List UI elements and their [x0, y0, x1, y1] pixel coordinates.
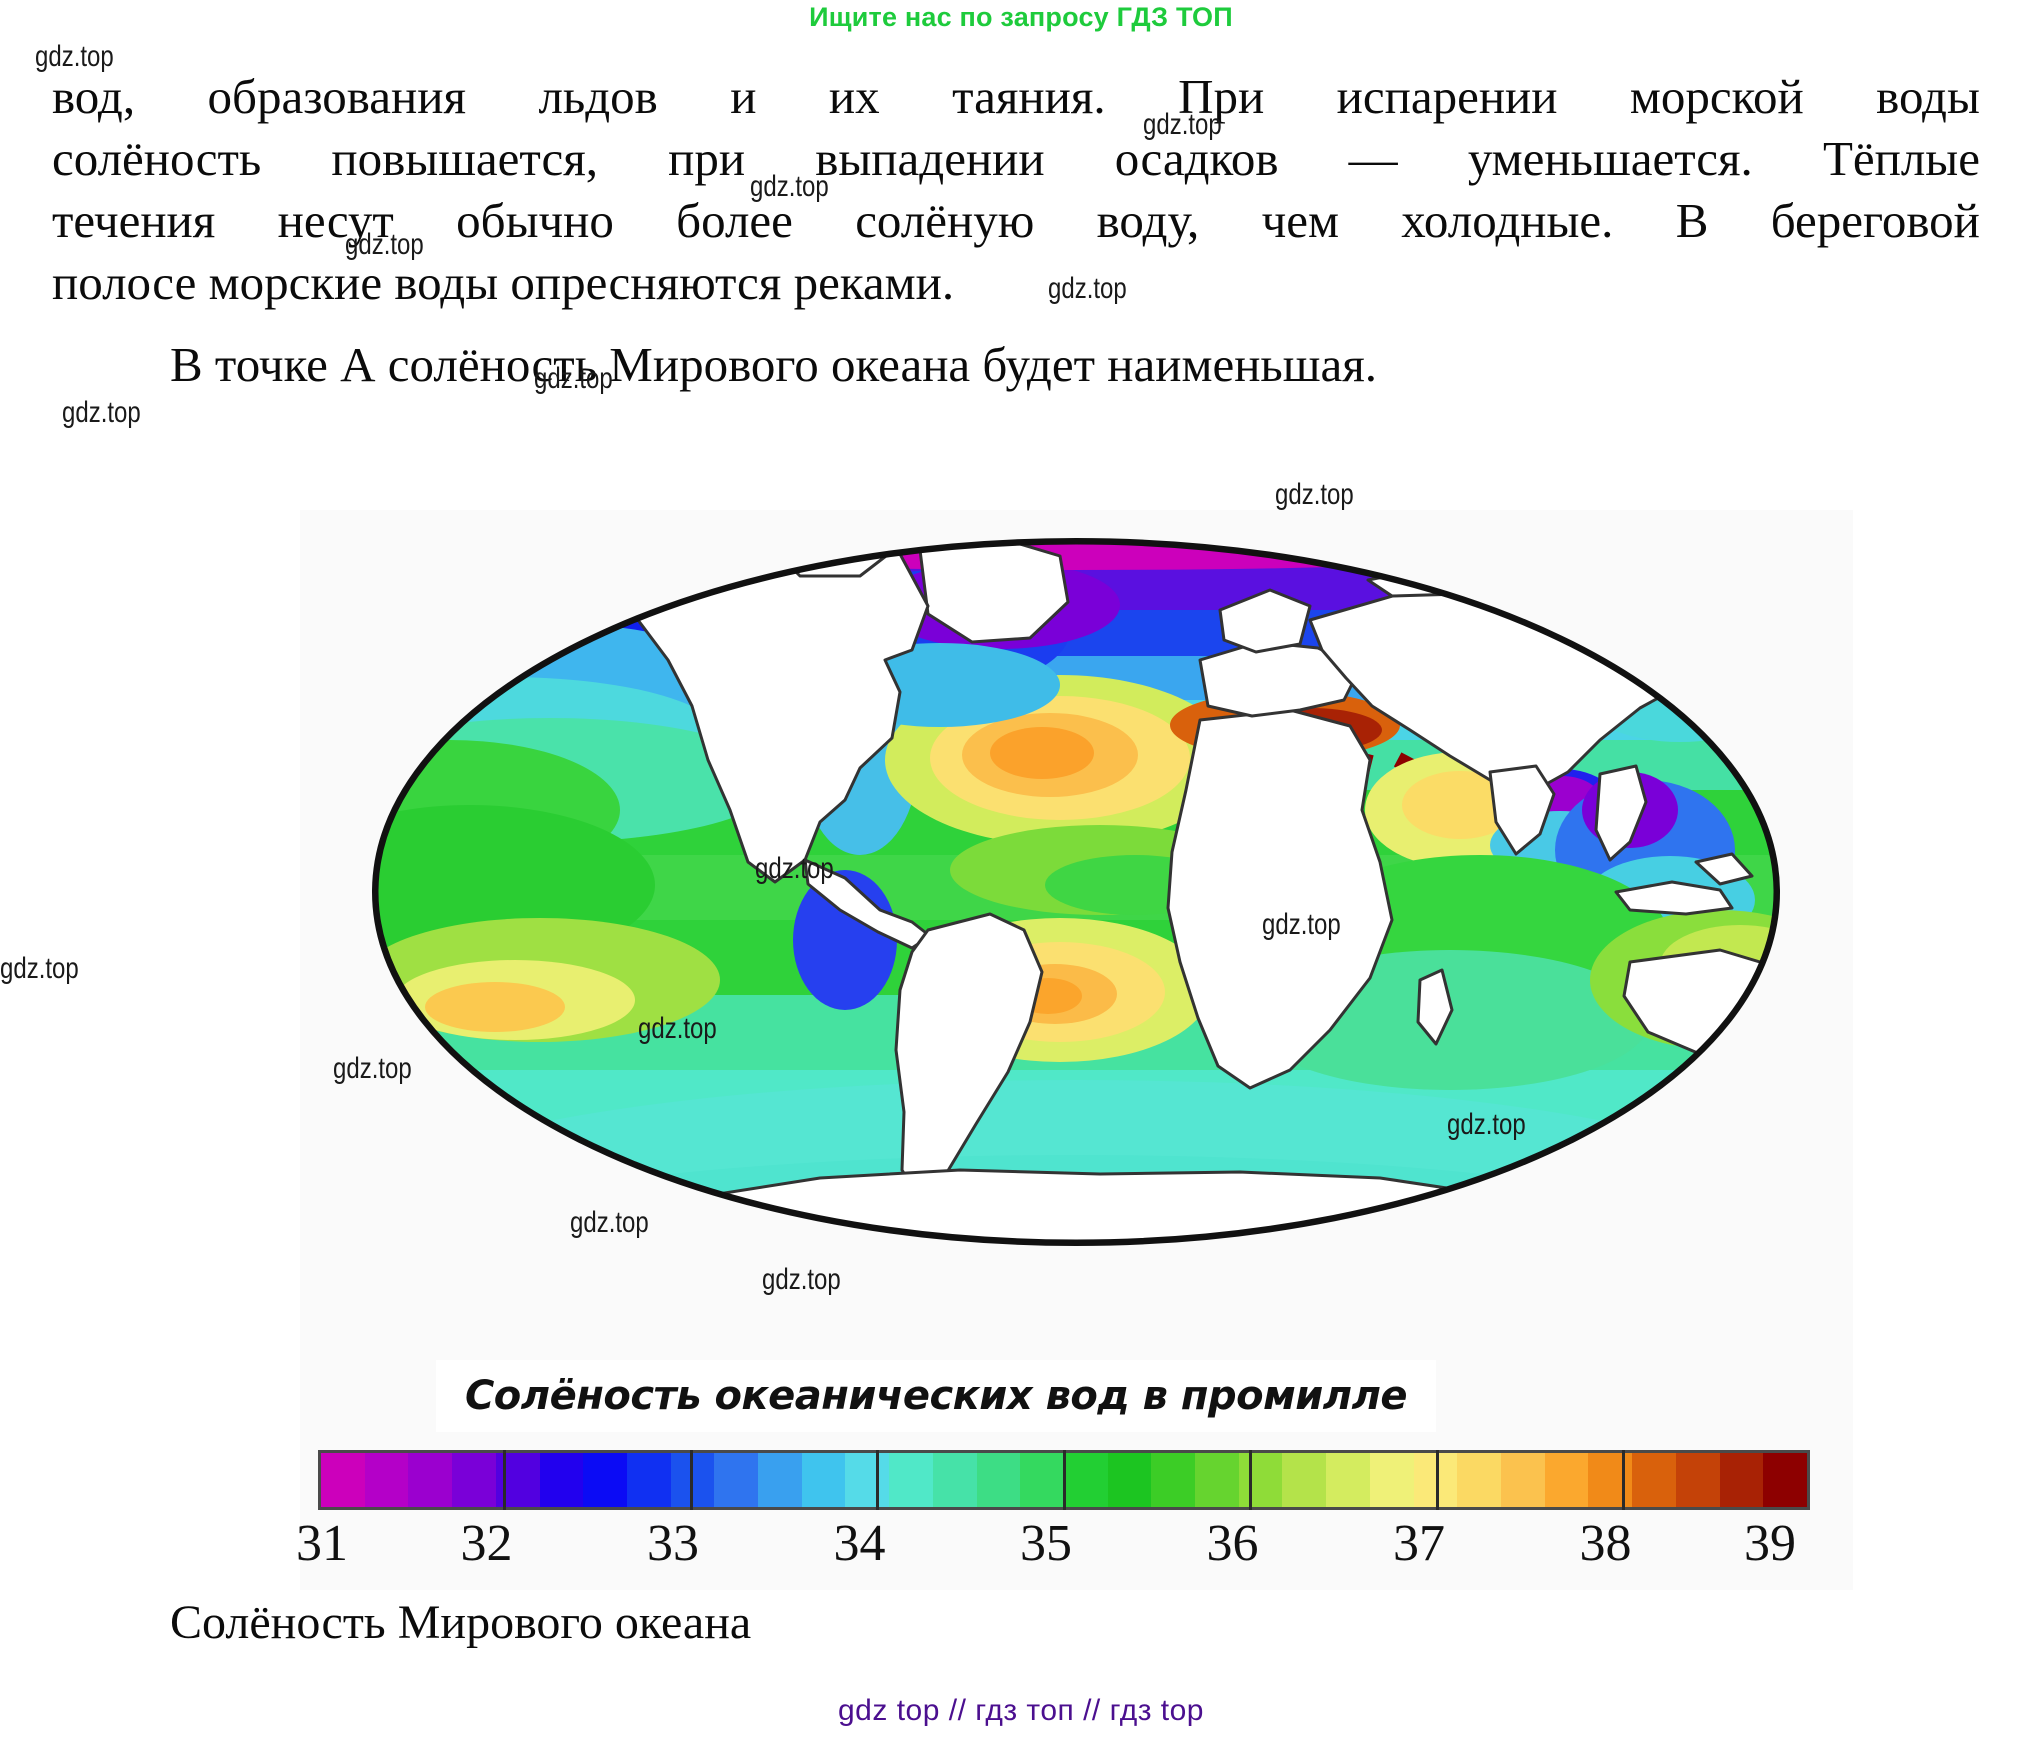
word: солёную [855, 190, 1034, 252]
colorbar-tick-label: 31 [296, 1514, 348, 1573]
word: испарении [1337, 66, 1558, 128]
colorbar-swatch [977, 1453, 1021, 1507]
watermark: gdz.top [0, 952, 79, 986]
colorbar-swatch [714, 1453, 758, 1507]
word: льдов [538, 66, 657, 128]
word: солёность [52, 128, 261, 190]
colorbar-swatch [1195, 1453, 1239, 1507]
colorbar-swatch [1632, 1453, 1676, 1507]
figure-caption: Солёность Мирового океана [170, 1595, 751, 1650]
colorbar-tick-label: 37 [1393, 1514, 1445, 1573]
paragraph-2: В точке А солёность Мирового океана буде… [52, 334, 1982, 396]
word: вод, [52, 66, 135, 128]
word: повышается, [331, 128, 598, 190]
watermark: gdz.top [62, 396, 141, 430]
colorbar-swatch [1501, 1453, 1545, 1507]
colorbar-swatch [1239, 1453, 1283, 1507]
word: воды [1876, 66, 1980, 128]
paragraph-line-2: солёность повышается, при выпадении осад… [52, 128, 1980, 190]
colorbar-swatch [408, 1453, 452, 1507]
colorbar-tick-labels: 313233343536373839 [300, 1514, 1792, 1574]
paragraph-line-1: вод, образования льдов и их таяния. При … [52, 66, 1980, 128]
word: обычно [456, 190, 614, 252]
colorbar-swatch [1064, 1453, 1108, 1507]
colorbar-swatch [583, 1453, 627, 1507]
colorbar-swatch [627, 1453, 671, 1507]
colorbar-swatch [540, 1453, 584, 1507]
colorbar-swatch [1720, 1453, 1764, 1507]
body-text-block: вод, образования льдов и их таяния. При … [52, 66, 1982, 396]
colorbar-swatch [1763, 1453, 1807, 1507]
legend-title-plate: Солёность океанических вод в промилле [436, 1360, 1436, 1432]
colorbar-swatch [889, 1453, 933, 1507]
colorbar-tick-label: 34 [834, 1514, 886, 1573]
colorbar-swatch [1545, 1453, 1589, 1507]
colorbar-swatch [758, 1453, 802, 1507]
paragraph-line-4: полосе морские воды опресняются реками. [52, 252, 1982, 314]
salinity-colorbar [318, 1450, 1810, 1510]
colorbar-swatch [452, 1453, 496, 1507]
salinity-figure: Солёность океанических вод в промилле 31… [300, 510, 1853, 1590]
mollweide-map-svg [300, 510, 1853, 1270]
word: воду, [1097, 190, 1200, 252]
colorbar-swatch [802, 1453, 846, 1507]
colorbar-tick-label: 33 [647, 1514, 699, 1573]
colorbar-swatch [1020, 1453, 1064, 1507]
colorbar-tick-label: 38 [1580, 1514, 1632, 1573]
word: чем [1262, 190, 1339, 252]
colorbar-tick-label: 35 [1020, 1514, 1072, 1573]
colorbar-tick-label: 32 [461, 1514, 513, 1573]
colorbar-swatch [933, 1453, 977, 1507]
colorbar-swatch [1108, 1453, 1152, 1507]
colorbar-swatch [1326, 1453, 1370, 1507]
colorbar-swatch [321, 1453, 365, 1507]
colorbar-tick-label: 39 [1744, 1514, 1796, 1573]
word: более [676, 190, 793, 252]
colorbar-swatch [1151, 1453, 1195, 1507]
page-root: Ищите нас по запросу ГДЗ ТОП вод, образо… [0, 0, 2042, 1745]
word: выпадении [815, 128, 1044, 190]
colorbar-swatch [845, 1453, 889, 1507]
word: Тёплые [1823, 128, 1980, 190]
paragraph-line-3: течения несут обычно более солёную воду,… [52, 190, 1980, 252]
word: уменьшается. [1468, 128, 1753, 190]
promo-header-text: Ищите нас по запросу ГДЗ ТОП [0, 2, 2042, 33]
colorbar-swatch [1282, 1453, 1326, 1507]
word: холодные. [1401, 190, 1613, 252]
watermark: gdz.top [1275, 478, 1354, 512]
colorbar-swatch [1588, 1453, 1632, 1507]
colorbar-swatch [1676, 1453, 1720, 1507]
world-salinity-map [300, 510, 1853, 1270]
word: — [1349, 128, 1398, 190]
colorbar-swatch [1414, 1453, 1458, 1507]
word: образования [208, 66, 466, 128]
word: при [668, 128, 745, 190]
word: их [829, 66, 880, 128]
word: береговой [1771, 190, 1980, 252]
word: В [1676, 190, 1709, 252]
colorbar-tick-label: 36 [1207, 1514, 1259, 1573]
word: течения [52, 190, 215, 252]
colorbar-swatch [365, 1453, 409, 1507]
colorbar-swatch [671, 1453, 715, 1507]
word: морской [1630, 66, 1804, 128]
word: и [730, 66, 756, 128]
colorbar-swatch [496, 1453, 540, 1507]
colorbar-wrapper [318, 1450, 1810, 1510]
colorbar-swatch [1370, 1453, 1414, 1507]
word: При [1178, 66, 1264, 128]
word: осадков [1115, 128, 1279, 190]
word: несут [278, 190, 394, 252]
legend-title: Солёность океанических вод в промилле [465, 1373, 1407, 1419]
promo-footer-text: gdz top // гдз топ // гдз top [0, 1694, 2042, 1728]
colorbar-swatch [1457, 1453, 1501, 1507]
word: таяния. [952, 66, 1106, 128]
